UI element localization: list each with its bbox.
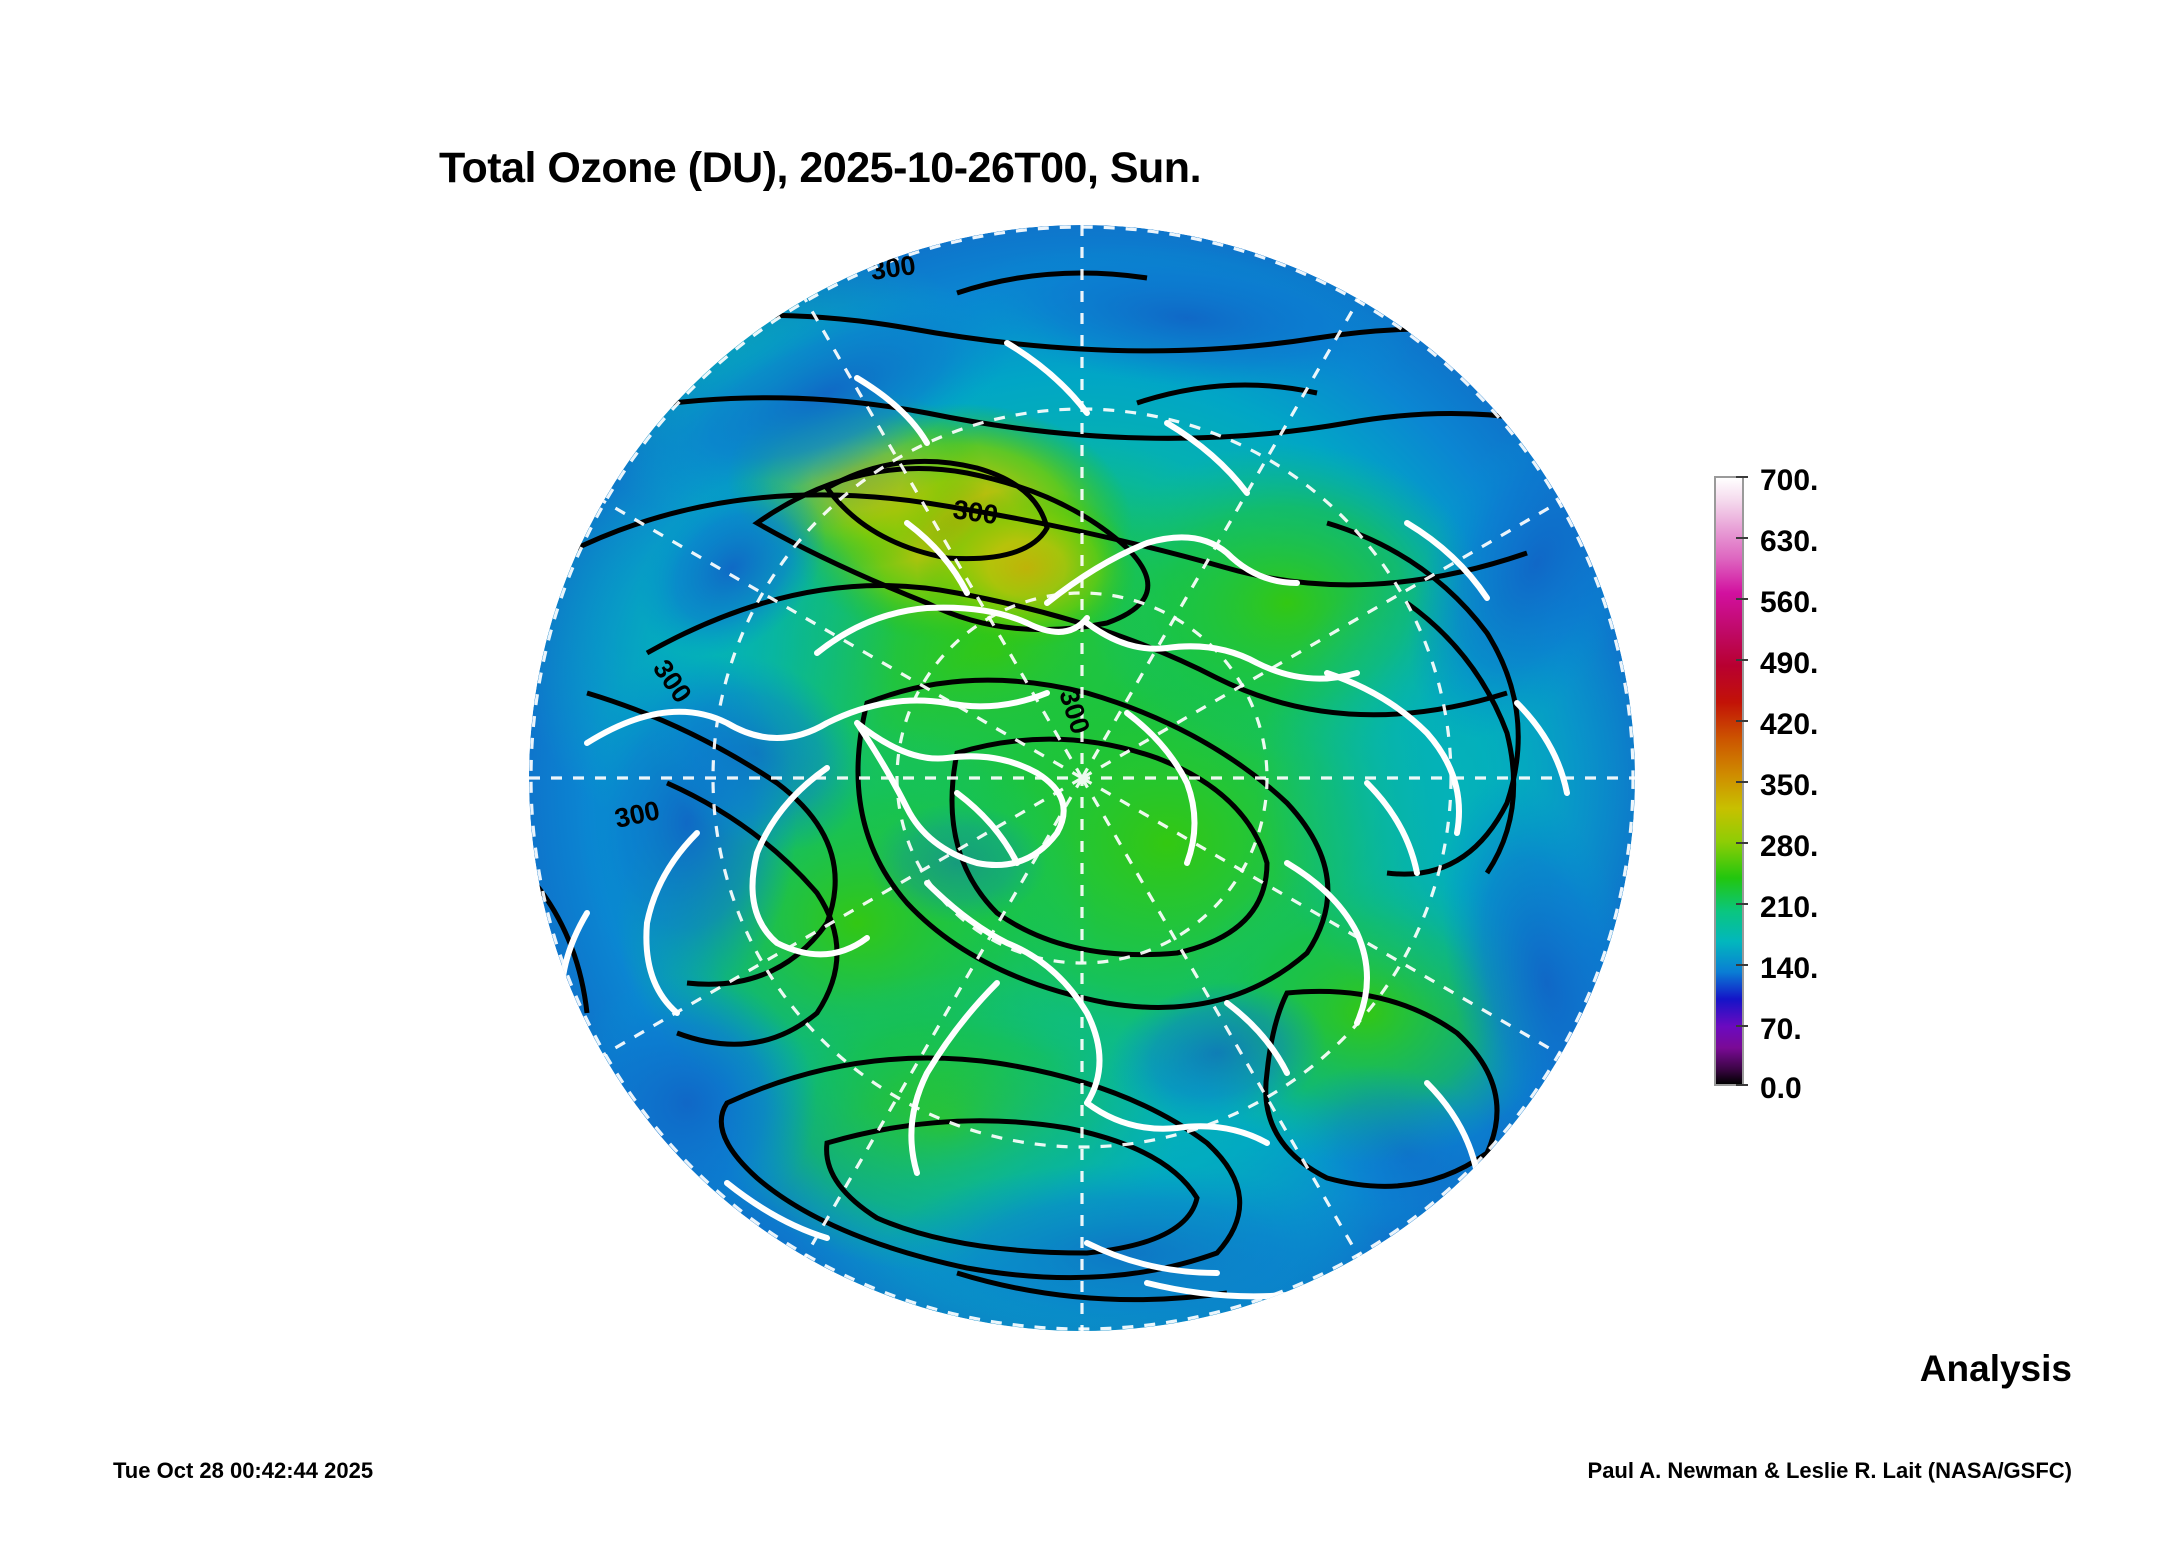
colorbar-label-420: 420.	[1760, 708, 1818, 742]
generation-timestamp: Tue Oct 28 00:42:44 2025	[113, 1458, 373, 1484]
colorbar-tick	[1736, 903, 1748, 905]
colorbar-tick	[1736, 842, 1748, 844]
colorbar-tick	[1736, 964, 1748, 966]
colorbar-tick	[1736, 720, 1748, 722]
colorbar-tick	[1736, 659, 1748, 661]
colorbar-tick	[1736, 1025, 1748, 1027]
colorbar-tick	[1736, 781, 1748, 783]
colorbar-label-560: 560.	[1760, 586, 1818, 620]
ozone-field: 300 300 300 300 300	[527, 224, 1637, 1333]
colorbar-label-350: 350.	[1760, 769, 1818, 803]
colorbar-label-700: 700.	[1760, 464, 1818, 498]
colorbar-tick	[1736, 1084, 1748, 1086]
colorbar-label-0: 0.0	[1760, 1072, 1802, 1106]
colorbar-label-210: 210.	[1760, 891, 1818, 925]
contour-label: 300	[951, 494, 1000, 530]
analysis-label: Analysis	[1920, 1348, 2072, 1390]
colorbar-label-140: 140.	[1760, 952, 1818, 986]
colorbar-label-70: 70.	[1760, 1013, 1802, 1047]
colorbar[interactable]: 700. 630. 560. 490. 420. 350. 280. 210. …	[1714, 476, 2044, 1091]
colorbar-label-280: 280.	[1760, 830, 1818, 864]
author-credit: Paul A. Newman & Leslie R. Lait (NASA/GS…	[1588, 1458, 2072, 1484]
colorbar-label-630: 630.	[1760, 525, 1818, 559]
colorbar-label-490: 490.	[1760, 647, 1818, 681]
map-canvas: 300 300 300 300 300	[527, 223, 1637, 1333]
polar-ozone-map[interactable]: 300 300 300 300 300	[527, 223, 1637, 1333]
ozone-map-page: Total Ozone (DU), 2025-10-26T00, Sun.	[0, 0, 2165, 1561]
colorbar-tick	[1736, 598, 1748, 600]
colorbar-tick	[1736, 537, 1748, 539]
contour-label: 300	[869, 250, 918, 286]
page-title: Total Ozone (DU), 2025-10-26T00, Sun.	[0, 144, 1640, 193]
colorbar-tick	[1736, 476, 1748, 478]
